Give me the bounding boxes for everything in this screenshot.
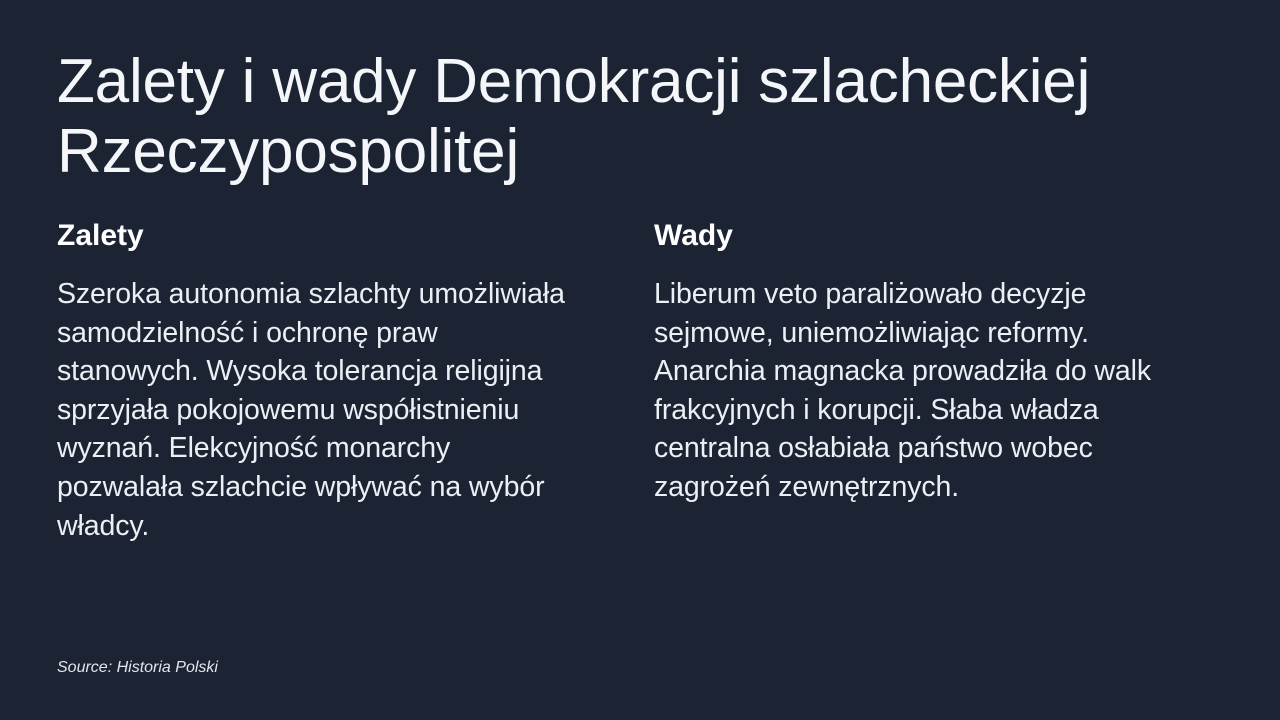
presentation-slide: Zalety i wady Demokracji szlacheckiej Rz…: [0, 0, 1280, 720]
column-disadvantages: Wady Liberum veto paraliżowało decyzje s…: [654, 219, 1175, 545]
slide-content-area: Zalety i wady Demokracji szlacheckiej Rz…: [57, 0, 1175, 720]
column-body-disadvantages: Liberum veto paraliżowało decyzje sejmow…: [654, 275, 1175, 507]
column-heading-advantages: Zalety: [57, 219, 578, 253]
column-body-advantages: Szeroka autonomia szlachty umożliwiała s…: [57, 275, 578, 545]
page-title: Zalety i wady Demokracji szlacheckiej Rz…: [57, 47, 1157, 187]
source-citation: Source: Historia Polski: [57, 657, 218, 679]
two-column-layout: Zalety Szeroka autonomia szlachty umożli…: [57, 219, 1175, 545]
column-advantages: Zalety Szeroka autonomia szlachty umożli…: [57, 219, 578, 545]
column-heading-disadvantages: Wady: [654, 219, 1175, 253]
